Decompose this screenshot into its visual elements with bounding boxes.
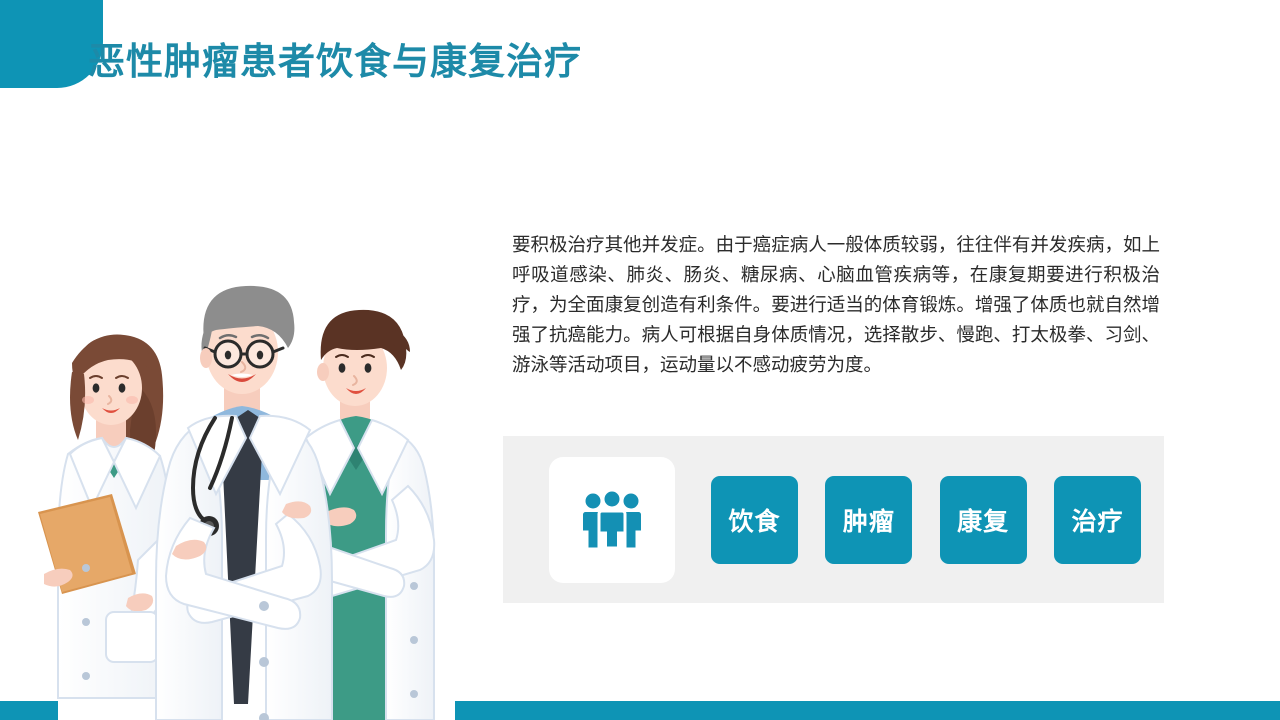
- tag-row: 饮食 肿瘤 康复 治疗: [711, 470, 1141, 570]
- tag-treatment[interactable]: 治疗: [1054, 476, 1141, 564]
- tag-diet[interactable]: 饮食: [711, 476, 798, 564]
- keyword-tag-panel: 饮食 肿瘤 康复 治疗: [503, 436, 1164, 603]
- page-title: 恶性肿瘤患者饮食与康复治疗: [88, 36, 582, 86]
- bottom-accent-bar-left: [0, 701, 58, 720]
- figure-senior-male-doctor: [156, 286, 332, 720]
- tag-tumor[interactable]: 肿瘤: [825, 476, 912, 564]
- body-paragraph: 要积极治疗其他并发症。由于癌症病人一般体质较弱，往往伴有并发疾病，如上呼吸道感染…: [512, 231, 1160, 381]
- bottom-accent-bar-right: [455, 701, 1280, 720]
- slide-canvas: 恶性肿瘤患者饮食与康复治疗: [0, 0, 1280, 720]
- three-medical-professionals-illustration: [10, 268, 480, 720]
- tag-rehabilitation[interactable]: 康复: [940, 476, 1027, 564]
- figure-female-doctor: [38, 335, 172, 698]
- group-people-icon-card: [549, 457, 675, 583]
- group-people-icon: [580, 490, 644, 550]
